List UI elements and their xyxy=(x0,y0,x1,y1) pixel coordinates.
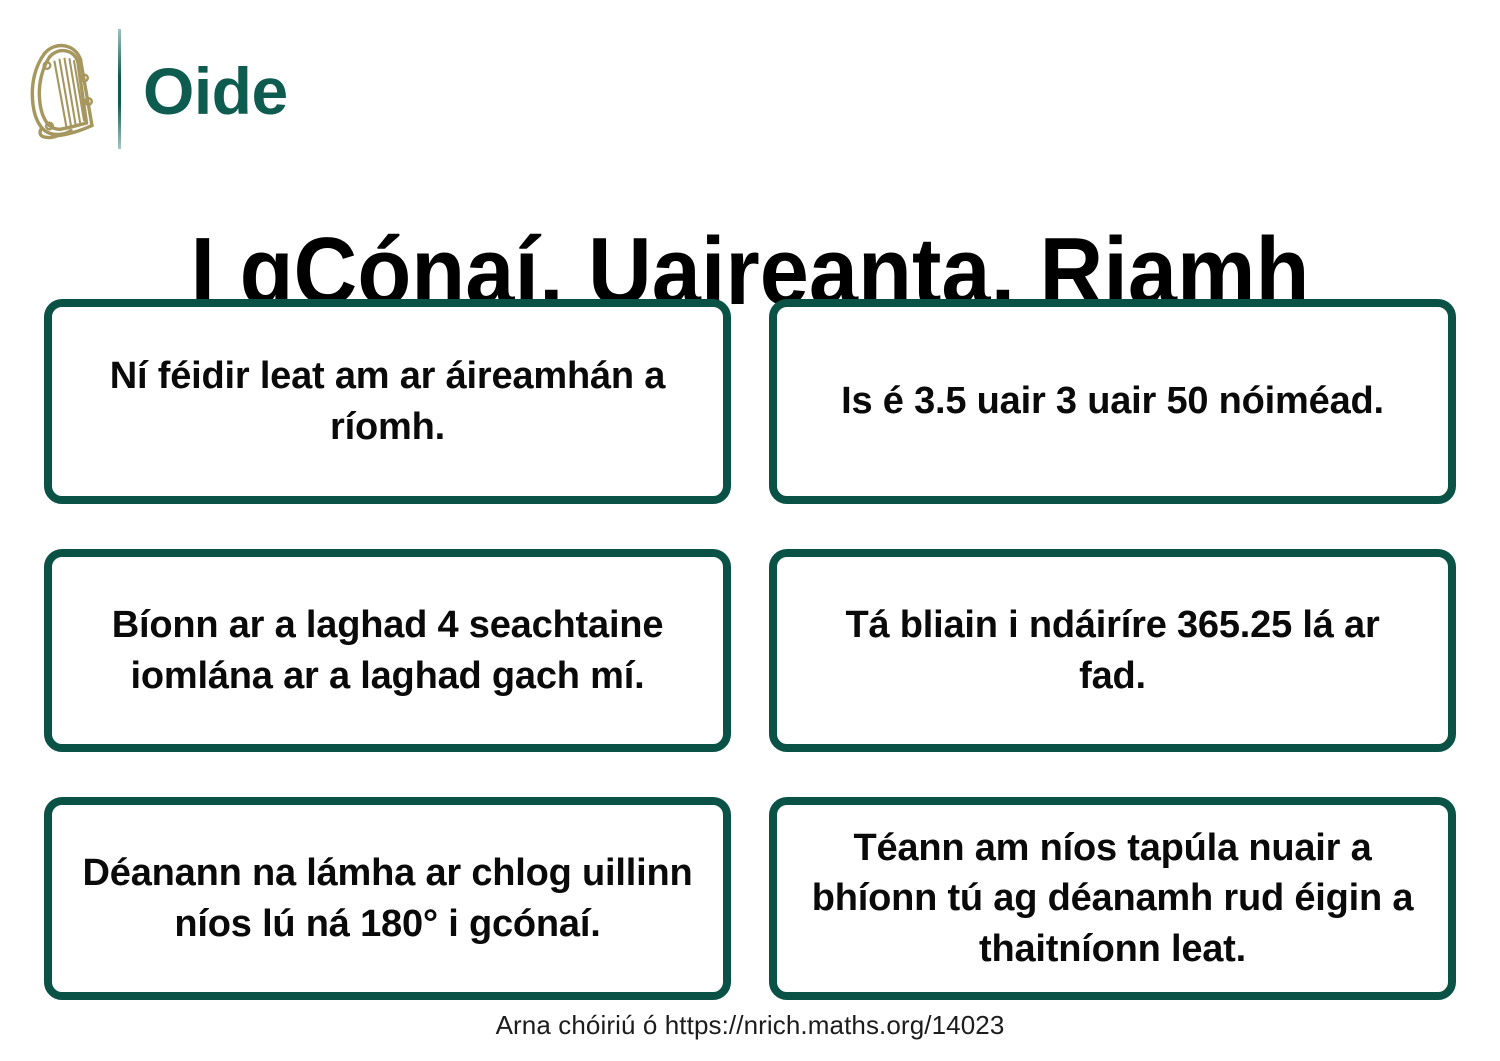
statement-card[interactable]: Téann am níos tapúla nuair a bhíonn tú a… xyxy=(769,797,1456,1000)
statement-card-text: Ní féidir leat am ar áireamhán a ríomh. xyxy=(108,351,668,452)
statement-card-text: Déanann na lámha ar chlog uillinn níos l… xyxy=(78,848,697,949)
statement-card[interactable]: Déanann na lámha ar chlog uillinn níos l… xyxy=(44,797,731,1000)
statement-card-text: Téann am níos tapúla nuair a bhíonn tú a… xyxy=(803,823,1422,975)
statement-card[interactable]: Tá bliain i ndáiríre 365.25 lá ar fad. xyxy=(769,549,1456,752)
harp-icon xyxy=(22,37,102,141)
brand-divider xyxy=(118,29,121,149)
statement-card[interactable]: Is é 3.5 uair 3 uair 50 nóiméad. xyxy=(769,299,1456,504)
statement-card-text: Tá bliain i ndáiríre 365.25 lá ar fad. xyxy=(833,600,1393,701)
statement-card[interactable]: Bíonn ar a laghad 4 seachtaine iomlána a… xyxy=(44,549,731,752)
statement-card-grid: Ní féidir leat am ar áireamhán a ríomh. … xyxy=(44,299,1456,1000)
source-credit: Arna chóiriú ó https://nrich.maths.org/1… xyxy=(0,1010,1500,1041)
statement-card[interactable]: Ní féidir leat am ar áireamhán a ríomh. xyxy=(44,299,731,504)
brand-name: Oide xyxy=(143,58,288,124)
brand-header: Oide xyxy=(22,28,288,150)
statement-card-text: Bíonn ar a laghad 4 seachtaine iomlána a… xyxy=(78,600,697,701)
statement-card-text: Is é 3.5 uair 3 uair 50 nóiméad. xyxy=(841,376,1384,427)
